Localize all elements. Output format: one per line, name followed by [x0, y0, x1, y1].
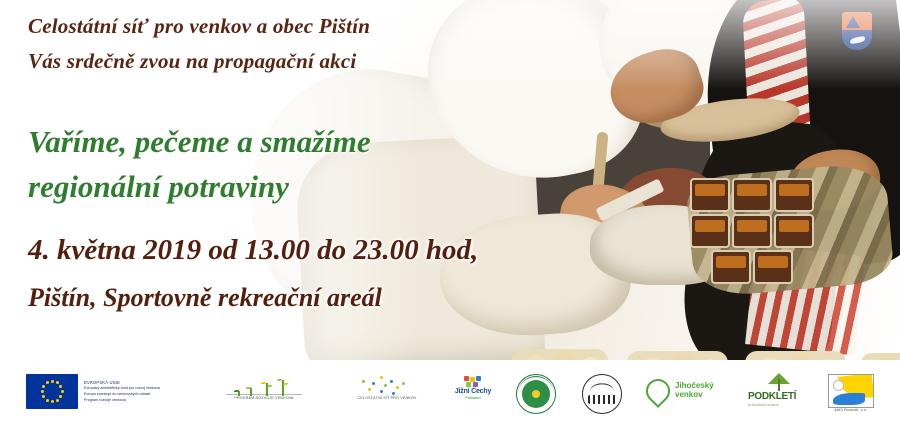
invitation-line-1: Celostátní síť pro venkov a obec Pištín — [28, 14, 370, 39]
event-date: 4. května 2019 od 13.00 do 23.00 hod, — [28, 234, 478, 267]
regionalni-potravina-logo — [516, 374, 556, 414]
eu-star-icon — [42, 395, 45, 398]
program-rozvoje-venkova-caption: PROGRAM ROZVOJE VENKOVA — [222, 396, 306, 400]
mas-rozkvet-caption: MAS Rozkvět, z.s. — [828, 408, 874, 412]
eu-star-icon — [42, 385, 45, 388]
eu-text-line-3: Evropa investuje do venkovských oblastí — [84, 392, 160, 398]
mas-rozkvet-logo: MAS Rozkvět, z.s. — [828, 374, 874, 412]
leaf-spiral-icon — [641, 374, 675, 408]
jihocesky-venkov-line-2: venkov — [675, 391, 714, 400]
eu-funding-logo: EVROPSKÁ UNIE Evropský zemědělský fond p… — [26, 374, 160, 409]
jihocesky-venkov-text: Jihočeský venkov — [675, 382, 714, 400]
program-rozvoje-venkova-logo: PROGRAM ROZVOJE VENKOVA — [222, 380, 306, 400]
event-title-line-1: Vaříme, pečeme a smažíme — [28, 124, 371, 160]
jar — [753, 250, 793, 284]
jizni-cechy-tagline: Pohodoví — [446, 395, 500, 400]
turisticka-znacka-logo — [582, 374, 622, 414]
podkleti-logo: PODKLETÍ turistická oblast — [748, 376, 796, 407]
eu-star-icon — [46, 381, 49, 384]
eu-star-icon — [59, 395, 62, 398]
eu-text-line-4: Program rozvoje venkova — [84, 398, 160, 404]
celostatni-sit-caption: CELOSTÁTNÍ SÍŤ PRO VENKOV — [350, 396, 424, 400]
eu-star-icon — [59, 385, 62, 388]
jar — [690, 214, 730, 248]
eu-star-icon — [51, 400, 54, 403]
eu-star-icon — [46, 399, 49, 402]
green-circle-emblem-icon — [516, 374, 556, 414]
celostatni-sit-logo: CELOSTÁTNÍ SÍŤ PRO VENKOV — [350, 376, 424, 400]
jar — [732, 214, 772, 248]
eu-star-icon — [56, 381, 59, 384]
event-poster: Celostátní síť pro venkov a obec Pištín … — [0, 0, 900, 427]
jar-display — [690, 178, 825, 283]
jizni-cechy-mark-icon — [462, 376, 484, 388]
eu-star-icon — [41, 390, 44, 393]
podkleti-tagline: turistická oblast — [748, 402, 796, 407]
sponsor-logo-bar: EVROPSKÁ UNIE Evropský zemědělský fond p… — [0, 360, 900, 427]
network-dots-icon — [350, 376, 424, 396]
event-title-line-2: regionální potraviny — [28, 169, 289, 205]
event-location: Pištín, Sportovně rekreační areál — [28, 283, 382, 313]
jihocesky-venkov-logo: Jihočeský venkov — [646, 379, 714, 403]
jar — [690, 178, 730, 212]
tree-icon — [748, 376, 796, 391]
jizni-cechy-name: Jižní Čechy — [446, 388, 500, 395]
eu-star-icon — [51, 380, 54, 383]
jizni-cechy-logo: Jižní Čechy Pohodoví — [446, 376, 500, 400]
mountain-circle-icon — [582, 374, 622, 414]
eu-star-icon — [56, 399, 59, 402]
mas-rozkvet-mark-icon — [828, 374, 874, 408]
jar — [774, 214, 814, 248]
eu-flag-icon — [26, 374, 78, 409]
sprout-icon — [222, 380, 306, 396]
jar — [711, 250, 751, 284]
invitation-line-2: Vás srdečně zvou na propagační akci — [28, 49, 356, 74]
jar — [732, 178, 772, 212]
podkleti-name: PODKLETÍ — [748, 391, 796, 402]
eu-star-icon — [61, 390, 64, 393]
eu-text-line-2: Evropský zemědělský fond pro rozvoj venk… — [84, 386, 160, 392]
jar — [774, 178, 814, 212]
eu-funding-text: EVROPSKÁ UNIE Evropský zemědělský fond p… — [84, 380, 160, 404]
